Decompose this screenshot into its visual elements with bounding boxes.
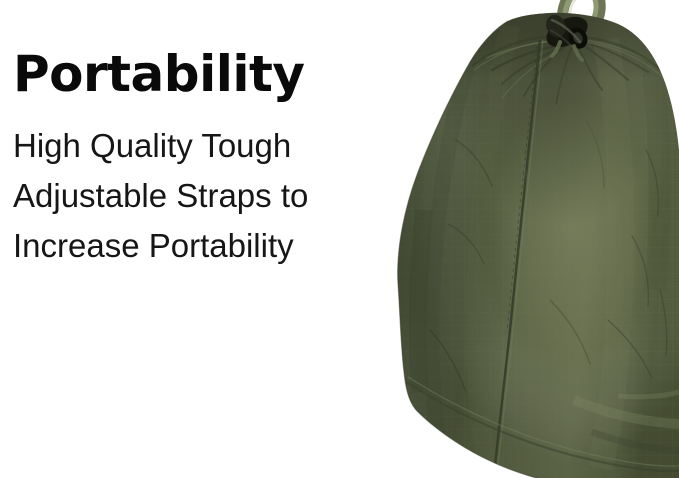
product-feature-banner: Portability High Quality Tough Adjustabl… (0, 0, 679, 478)
description-line-3: Increase Portability (13, 221, 383, 271)
page-title: Portability (13, 48, 383, 100)
stuff-sack-illustration (360, 0, 679, 478)
description-line-1: High Quality Tough (13, 121, 383, 171)
product-image (360, 0, 679, 478)
description-line-2: Adjustable Straps to (13, 171, 383, 221)
text-panel: Portability High Quality Tough Adjustabl… (13, 48, 383, 271)
feature-description: High Quality Tough Adjustable Straps to … (13, 100, 383, 271)
